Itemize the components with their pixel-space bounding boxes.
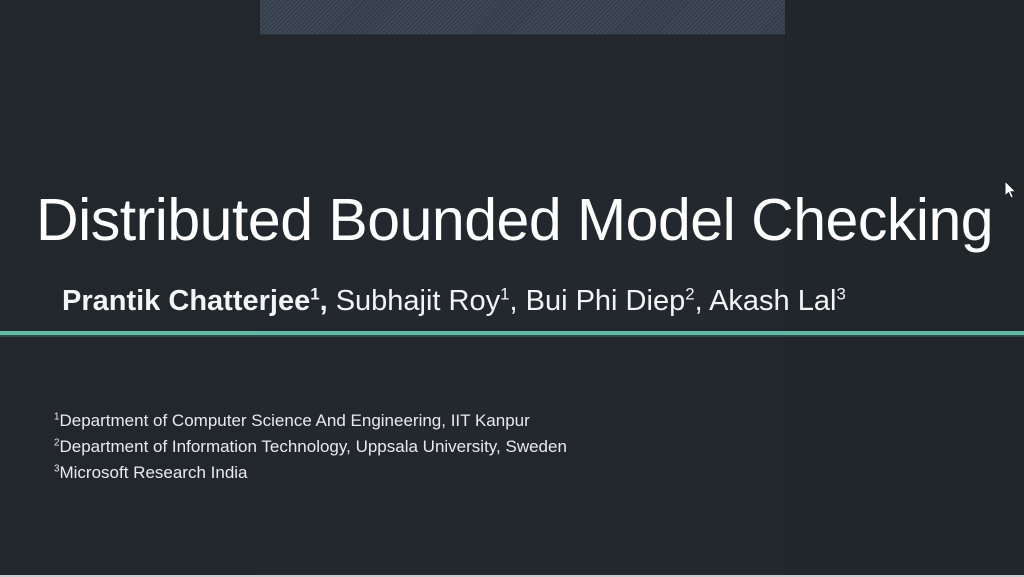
author-4-name: Akash Lal <box>709 285 836 317</box>
affiliation-item: 3Microsoft Research India <box>54 460 954 486</box>
affiliation-text: Microsoft Research India <box>59 463 247 482</box>
author-2-name: Subhajit Roy <box>336 285 500 317</box>
author-lead-name: Prantik Chatterjee <box>62 285 310 317</box>
author-separator-3: , <box>695 285 710 317</box>
background-panel-hairline <box>260 34 785 35</box>
affiliation-item: 2Department of Information Technology, U… <box>54 434 954 460</box>
affiliation-text: Department of Computer Science And Engin… <box>59 411 529 430</box>
author-3-affiliation-marker: 2 <box>685 284 694 303</box>
affiliation-item: 1Department of Computer Science And Engi… <box>54 408 954 434</box>
affiliation-text: Department of Information Technology, Up… <box>59 437 566 456</box>
presentation-slide: Distributed Bounded Model Checking Prant… <box>0 0 1024 577</box>
author-separator-1: , <box>320 285 336 317</box>
author-lead-affiliation-marker: 1 <box>310 284 319 303</box>
accent-divider-shadow <box>0 335 1024 337</box>
decorative-hatched-band <box>260 0 785 34</box>
affiliation-list: 1Department of Computer Science And Engi… <box>54 408 954 486</box>
author-list: Prantik Chatterjee1, Subhajit Roy1, Bui … <box>62 284 1012 319</box>
slide-title: Distributed Bounded Model Checking <box>36 188 996 253</box>
author-4-affiliation-marker: 3 <box>836 284 845 303</box>
author-3-name: Bui Phi Diep <box>526 285 686 317</box>
author-separator-2: , <box>509 285 525 317</box>
